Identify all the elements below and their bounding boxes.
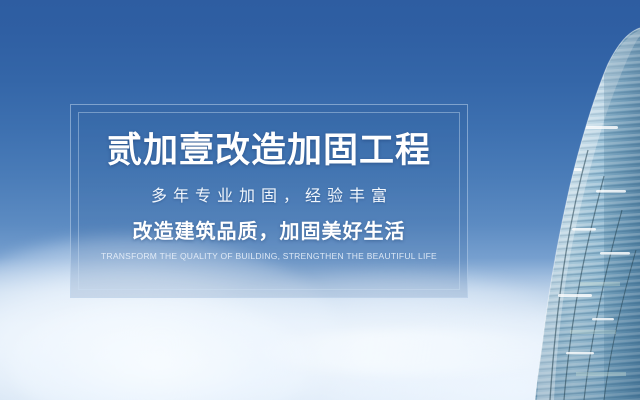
skyscraper-image xyxy=(500,0,640,400)
headline-panel: 贰加壹改造加固工程 多年专业加固，经验丰富 改造建筑品质，加固美好生活 TRAN… xyxy=(70,104,468,298)
english-tagline: TRANSFORM THE QUALITY OF BUILDING, STREN… xyxy=(101,252,437,261)
subtitle-text: 多年专业加固，经验丰富 xyxy=(145,189,393,205)
panel-content: 贰加壹改造加固工程 多年专业加固，经验丰富 改造建筑品质，加固美好生活 TRAN… xyxy=(71,105,467,297)
skyscraper-icon xyxy=(500,0,640,400)
slogan-text: 改造建筑品质，加固美好生活 xyxy=(133,222,406,242)
page-title: 贰加壹改造加固工程 xyxy=(107,133,431,168)
banner-stage: 贰加壹改造加固工程 多年专业加固，经验丰富 改造建筑品质，加固美好生活 TRAN… xyxy=(0,0,640,400)
